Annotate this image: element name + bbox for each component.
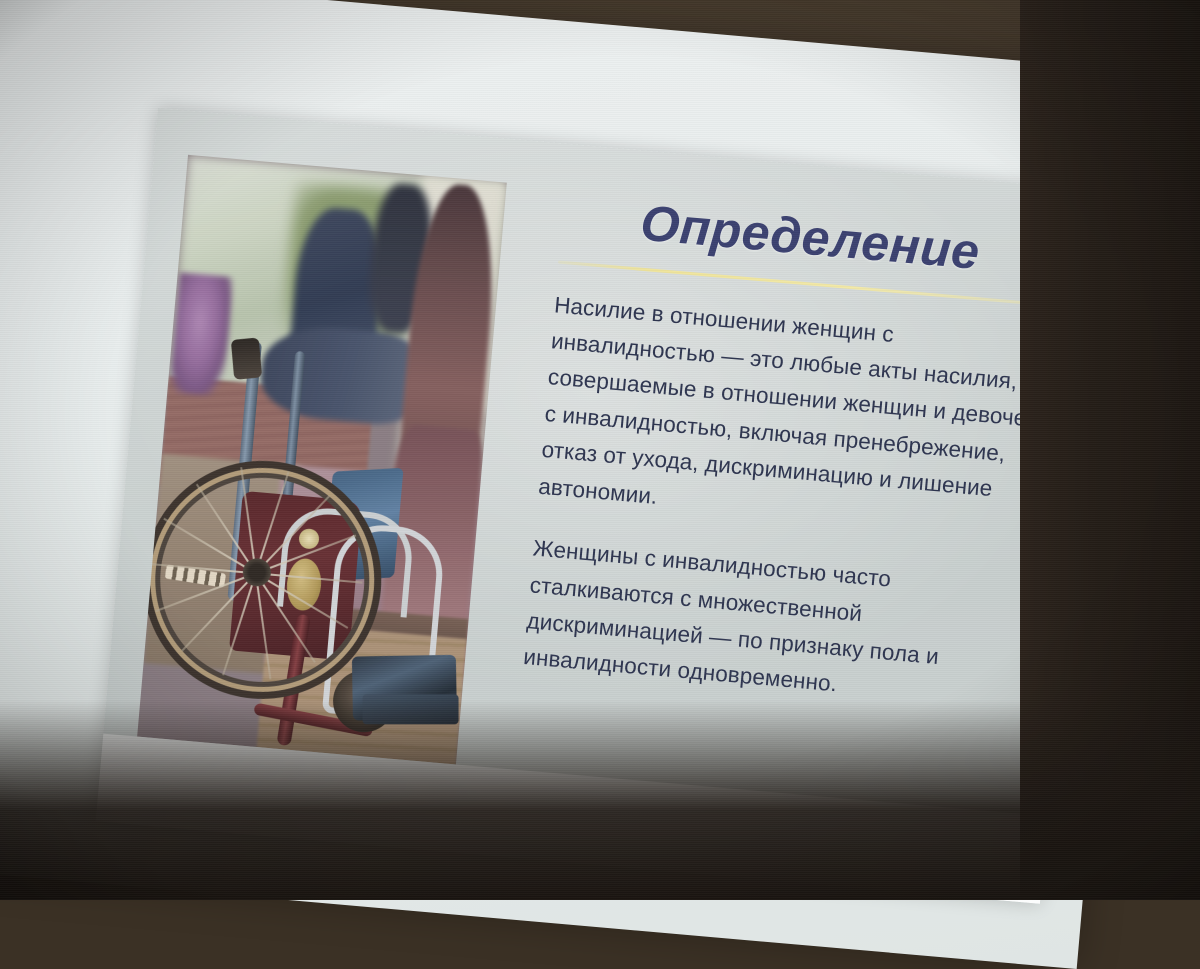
wall-bottom-shadow [0, 700, 1200, 900]
definition-paragraph-1: Насилие в отношении женщин с инвалидност… [537, 287, 1052, 548]
wheelchair-photo [137, 155, 507, 765]
page-title: Определение [560, 190, 1061, 286]
room-wall: Определение Насилие в отношении женщин с… [0, 0, 1200, 900]
wheelchair [137, 334, 497, 761]
definition-paragraph-2: Женщины с инвалидностью часто сталкивают… [522, 531, 1031, 720]
wheelchair-push-handle [231, 338, 262, 380]
